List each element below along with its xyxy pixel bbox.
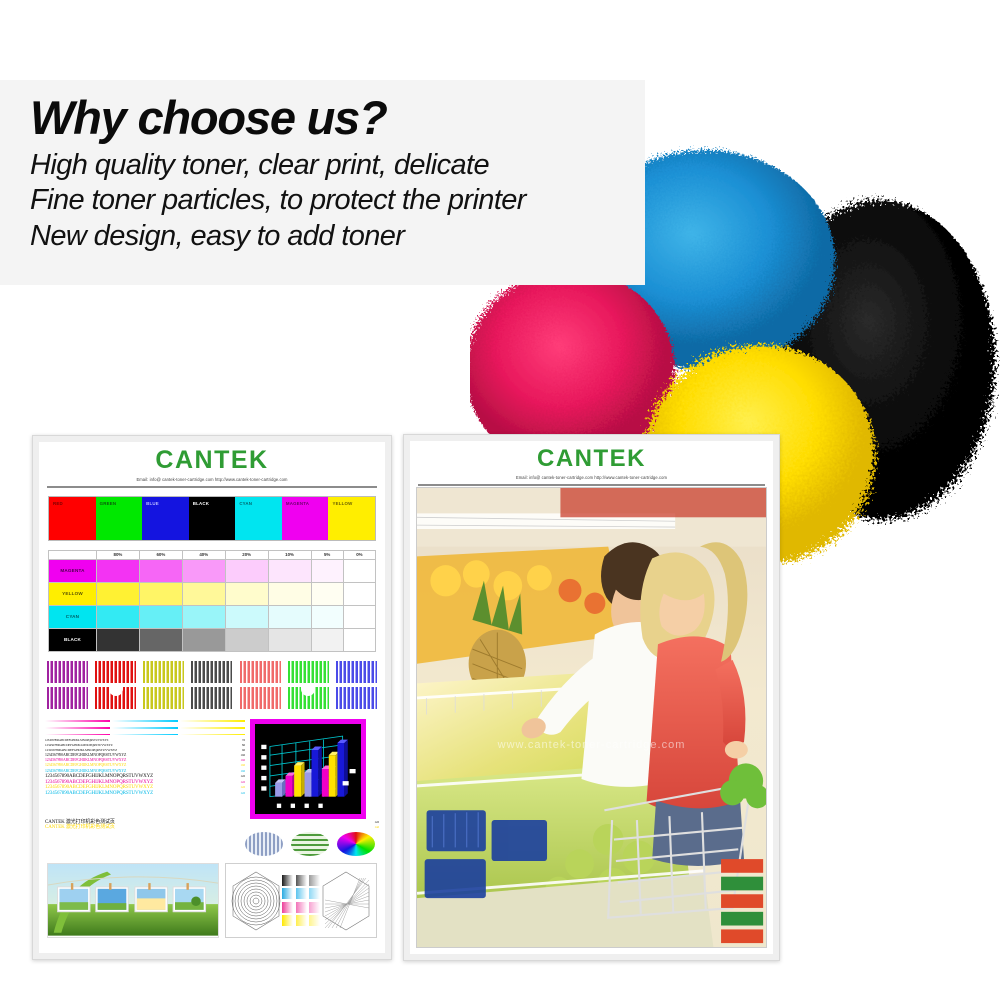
swatch-black-gradient [282, 875, 293, 886]
swatch-magenta-gradient [309, 902, 320, 913]
headline-line-3: New design, easy to add toner [30, 219, 645, 254]
striped-patch [288, 687, 329, 709]
chinese-size-label: 12# [375, 820, 380, 824]
resolution-size-label: 8# [242, 743, 245, 747]
pct-header-5: 5% [311, 550, 343, 559]
resolution-size-label: 12# [241, 774, 246, 778]
pct-row-black: BLACK [49, 628, 376, 651]
patch-row [47, 661, 377, 683]
resolution-text: 1234567890ABCDEFGHIJKLMNOPQRSTUVWXYZ [45, 749, 117, 752]
striped-patch [143, 687, 184, 709]
resolution-text: 1234567890ABCDEFGHIJKLMNOPQRSTUVWXYZ [45, 780, 153, 785]
chinese-caption-lines: CANTEK 激光打印机彩色测试页12#CANTEK 激光打印机彩色测试页14# [39, 820, 385, 831]
resolution-text-line: 1234567890ABCDEFGHIJKLMNOPQRSTUVWXYZ10# [45, 758, 245, 763]
cyan-gradient-strip [112, 734, 177, 736]
resolution-and-chart-block: 1234567890ABCDEFGHIJKLMNOPQRSTUVWXYZ7#12… [45, 719, 379, 819]
resolution-text-line: 1234567890ABCDEFGHIJKLMNOPQRSTUVWXYZ10# [45, 769, 245, 774]
resolution-text-line: 1234567890ABCDEFGHIJKLMNOPQRSTUVWXYZ12# [45, 780, 245, 785]
pct-cell-yellow-5 [311, 582, 343, 605]
color-bar-label: CYAN [239, 501, 252, 506]
resolution-size-label: 12# [241, 791, 246, 795]
cyan-gradient-strip [112, 720, 177, 722]
color-bar-red: RED [49, 497, 96, 540]
headline-subtitle-list: High quality toner, clear print, delicat… [30, 148, 645, 254]
color-bar-cyan: CYAN [235, 497, 282, 540]
woman-shopper [640, 542, 748, 866]
chinese-size-label: 14# [375, 825, 380, 829]
resolution-text: 1234567890ABCDEFGHIJKLMNOPQRSTUVWXYZ [45, 739, 108, 742]
pct-header-20: 20% [225, 550, 268, 559]
pct-cell-magenta-0 [343, 559, 375, 582]
resolution-size-label: 10# [241, 769, 246, 773]
swatch-magenta-gradient [296, 902, 307, 913]
swatch-cyan-gradient [309, 888, 320, 899]
gradient-strip-row [45, 725, 245, 730]
test-page-photo[interactable]: CANTEK Email: info@ cantek-toner-cartrid… [403, 434, 780, 961]
resolution-text-line: 1234567890ABCDEFGHIJKLMNOPQRSTUVWXYZ12# [45, 791, 245, 796]
striped-patch [191, 661, 232, 683]
chinese-caption-line: CANTEK 激光打印机彩色测试页12# [45, 820, 379, 825]
striped-patch [240, 661, 281, 683]
pct-cell-cyan-0 [343, 605, 375, 628]
ellipse-horizontal-stripes [291, 832, 329, 856]
headline-line-2: Fine toner particles, to protect the pri… [30, 183, 645, 218]
resolution-text: 1234567890ABCDEFGHIJKLMNOPQRSTUVWXYZ [45, 764, 126, 768]
pct-cell-magenta-20 [225, 559, 268, 582]
resolution-size-label: 9# [242, 748, 245, 752]
yellow-gradient-strip [180, 734, 245, 736]
headline-panel: Why choose us? High quality toner, clear… [0, 80, 645, 285]
resolution-text: 1234567890ABCDEFGHIJKLMNOPQRSTUVWXYZ [45, 754, 126, 758]
3d-bar-chart-figure [250, 719, 366, 819]
pct-header-10: 10% [268, 550, 311, 559]
text-resolution-lines: 1234567890ABCDEFGHIJKLMNOPQRSTUVWXYZ7#12… [45, 719, 245, 819]
color-bar-label: MAGENTA [286, 501, 309, 506]
pct-cell-cyan-10 [268, 605, 311, 628]
pct-header-40: 40% [182, 550, 225, 559]
pct-row-yellow: YELLOW [49, 582, 376, 605]
color-bar-label: RED [53, 501, 63, 506]
cmyk-swatch-grid [282, 875, 320, 927]
spiral-hexagon-figure [230, 870, 282, 932]
color-bar-label: YELLOW [332, 501, 352, 506]
swatch-cyan-gradient [282, 888, 293, 899]
striped-patch [336, 661, 377, 683]
pct-header-80: 80% [97, 550, 140, 559]
resolution-size-label: 12# [241, 785, 246, 789]
cyan-gradient-strip [112, 727, 177, 729]
swatch-black-gradient [296, 875, 307, 886]
ellipse-vertical-stripes [245, 832, 283, 856]
resolution-size-label: 10# [241, 763, 246, 767]
color-bar-black: BLACK [189, 497, 236, 540]
pct-cell-magenta-60 [139, 559, 182, 582]
tint-percentage-grid: 80%60%40%20%10%5%0%MAGENTAYELLOWCYANBLAC… [48, 550, 376, 652]
pct-row-label: CYAN [49, 605, 97, 628]
pct-cell-yellow-80 [97, 582, 140, 605]
color-bar-yellow: YELLOW [328, 497, 375, 540]
brand-contact: Email: info@ cantek-toner-cartridge.com … [410, 475, 773, 480]
header-divider [47, 486, 377, 488]
resolution-text: 1234567890ABCDEFGHIJKLMNOPQRSTUVWXYZ [45, 759, 126, 763]
pct-cell-yellow-60 [139, 582, 182, 605]
resolution-text: 1234567890ABCDEFGHIJKLMNOPQRSTUVWXYZ [45, 770, 126, 774]
headline-line-1: High quality toner, clear print, delicat… [30, 148, 645, 183]
striped-patch [336, 687, 377, 709]
pct-cell-cyan-20 [225, 605, 268, 628]
ellipse-pattern-row [39, 832, 375, 856]
supermarket-photo: www.cantek-toner-cartridge.com [416, 487, 767, 948]
alphanumeric-line-list: 1234567890ABCDEFGHIJKLMNOPQRSTUVWXYZ7#12… [45, 738, 245, 796]
resolution-text-line: 1234567890ABCDEFGHIJKLMNOPQRSTUVWXYZ9# [45, 748, 245, 752]
brand-contact: Email: info@ cantek-toner-cartridge.com … [39, 477, 385, 482]
bottom-imagery-row [47, 863, 377, 938]
striped-patch [143, 661, 184, 683]
pct-header-60: 60% [139, 550, 182, 559]
swatch-black-gradient [309, 875, 320, 886]
pct-cell-cyan-80 [97, 605, 140, 628]
resolution-size-label: 10# [241, 753, 246, 757]
pct-cell-cyan-40 [182, 605, 225, 628]
swatch-magenta-gradient [282, 902, 293, 913]
color-bar-row: REDGREENBLUEBLACKCYANMAGENTAYELLOW [48, 496, 376, 541]
pct-row-label: BLACK [49, 628, 97, 651]
resolution-text-line: 1234567890ABCDEFGHIJKLMNOPQRSTUVWXYZ7# [45, 738, 245, 742]
color-bar-label: BLACK [193, 501, 209, 506]
pct-cell-yellow-10 [268, 582, 311, 605]
pct-cell-cyan-60 [139, 605, 182, 628]
color-bar-label: GREEN [100, 501, 117, 506]
resolution-size-label: 7# [242, 738, 245, 742]
brand-logo: CANTEK [410, 447, 773, 471]
pct-cell-black-80 [97, 628, 140, 651]
pct-row-label: YELLOW [49, 582, 97, 605]
swatch-yellow-gradient [309, 915, 320, 926]
pct-cell-black-0 [343, 628, 375, 651]
gradient-strip-row [45, 732, 245, 737]
pct-row-magenta: MAGENTA [49, 559, 376, 582]
resolution-text-line: 1234567890ABCDEFGHIJKLMNOPQRSTUVWXYZ8# [45, 743, 245, 747]
striped-patch [288, 661, 329, 683]
swatch-yellow-gradient [296, 915, 307, 926]
gradient-strip-row [45, 719, 245, 724]
color-bar-label: BLUE [146, 501, 159, 506]
pct-cell-black-10 [268, 628, 311, 651]
clothesline-photo [47, 863, 219, 938]
test-page-color-chart[interactable]: CANTEK Email: info@ cantek-toner-cartrid… [32, 435, 392, 960]
pct-cell-cyan-5 [311, 605, 343, 628]
striped-patch [47, 661, 88, 683]
color-bar-green: GREEN [96, 497, 143, 540]
pct-cell-yellow-20 [225, 582, 268, 605]
resolution-text-line: 1234567890ABCDEFGHIJKLMNOPQRSTUVWXYZ10# [45, 753, 245, 758]
brand-logo: CANTEK [39, 448, 385, 473]
pct-cell-yellow-40 [182, 582, 225, 605]
pct-cell-black-40 [182, 628, 225, 651]
printed-test-pages: CANTEK Email: info@ cantek-toner-cartrid… [0, 415, 820, 975]
pct-header-row: 80%60%40%20%10%5%0% [49, 550, 376, 559]
striped-patch [95, 661, 136, 683]
yellow-gradient-strip [180, 720, 245, 722]
pct-cell-magenta-40 [182, 559, 225, 582]
striped-patch [95, 687, 136, 709]
resolution-size-label: 10# [241, 758, 246, 762]
resolution-text-line: 1234567890ABCDEFGHIJKLMNOPQRSTUVWXYZ12# [45, 774, 245, 779]
striped-patch [191, 687, 232, 709]
resolution-text: 1234567890ABCDEFGHIJKLMNOPQRSTUVWXYZ [45, 785, 153, 790]
resolution-text-line: 1234567890ABCDEFGHIJKLMNOPQRSTUVWXYZ10# [45, 763, 245, 768]
swatch-yellow-gradient [282, 915, 293, 926]
resolution-text-line: 1234567890ABCDEFGHIJKLMNOPQRSTUVWXYZ12# [45, 785, 245, 790]
striped-patch [240, 687, 281, 709]
line-burst-hexagon-figure [320, 870, 372, 932]
patch-notch [109, 687, 123, 696]
header-divider [418, 484, 765, 486]
patch-notch [301, 687, 315, 696]
striped-patch [47, 687, 88, 709]
magenta-gradient-strip [45, 734, 110, 736]
color-bar-magenta: MAGENTA [282, 497, 329, 540]
resolution-size-label: 12# [241, 780, 246, 784]
magenta-gradient-strip [45, 727, 110, 729]
pct-header-0: 0% [343, 550, 375, 559]
resolution-text: 1234567890ABCDEFGHIJKLMNOPQRSTUVWXYZ [45, 744, 113, 747]
page-header-right: CANTEK Email: info@ cantek-toner-cartrid… [410, 441, 773, 480]
color-bar-blue: BLUE [142, 497, 189, 540]
pct-cell-magenta-5 [311, 559, 343, 582]
resolution-text: 1234567890ABCDEFGHIJKLMNOPQRSTUVWXYZ [45, 774, 153, 779]
pct-cell-magenta-10 [268, 559, 311, 582]
pct-cell-black-60 [139, 628, 182, 651]
patch-row [47, 687, 377, 709]
pct-row-label: MAGENTA [49, 559, 97, 582]
chinese-caption-text: CANTEK 激光打印机彩色测试页 [45, 825, 115, 830]
magenta-gradient-strip [45, 720, 110, 722]
yellow-gradient-strip [180, 727, 245, 729]
page-title: Why choose us? [30, 94, 645, 141]
resolution-text: 1234567890ABCDEFGHIJKLMNOPQRSTUVWXYZ [45, 791, 153, 796]
pct-cell-magenta-80 [97, 559, 140, 582]
pct-row-cyan: CYAN [49, 605, 376, 628]
pct-cell-black-20 [225, 628, 268, 651]
chinese-caption-line: CANTEK 激光打印机彩色测试页14# [45, 825, 379, 830]
pct-cell-black-5 [311, 628, 343, 651]
chinese-caption-text: CANTEK 激光打印机彩色测试页 [45, 820, 115, 825]
page-header-left: CANTEK Email: info@ cantek-toner-cartrid… [39, 442, 385, 482]
pct-corner-cell [49, 550, 97, 559]
resolution-swatch-panel [225, 863, 377, 938]
pct-cell-yellow-0 [343, 582, 375, 605]
ellipse-color-wheel [337, 832, 375, 856]
swatch-cyan-gradient [296, 888, 307, 899]
striped-patch-rows [39, 661, 385, 709]
